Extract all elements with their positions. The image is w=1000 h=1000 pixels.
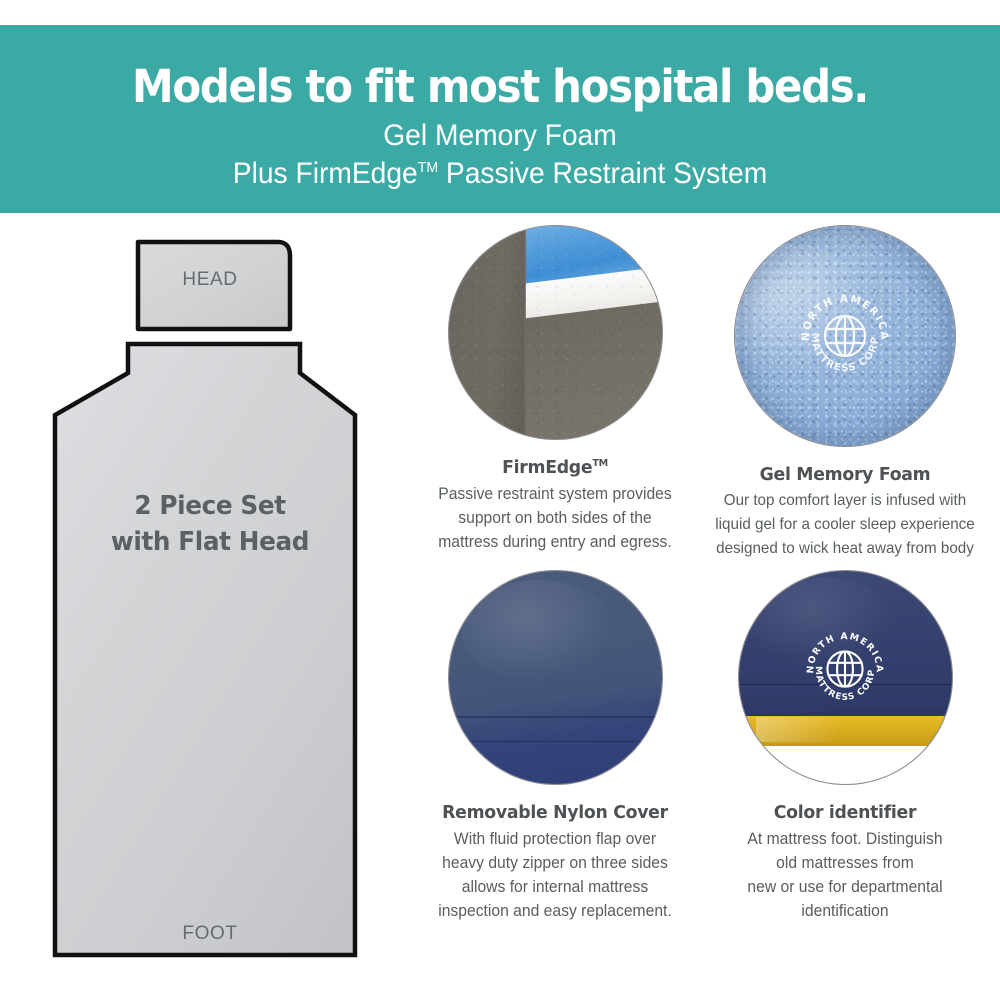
subtitle-line-1: Gel Memory Foam (30, 117, 970, 155)
feature-description-line: designed to wick heat away from body (707, 537, 983, 561)
page-title: Models to fit most hospital beds. (35, 31, 965, 117)
feature-description-line: Our top comfort layer is infused with (707, 489, 983, 513)
firmedge-foam-layers-photo (448, 225, 663, 440)
nylon-seam-line-secondary (449, 741, 662, 742)
feature-description-line: heavy duty zipper on three sides (417, 851, 693, 875)
mattress-body-piece (55, 344, 355, 955)
globe-logo-svg: NORTH AMERICA MATTRESS CORP. (801, 625, 889, 713)
feature-card-removable-nylon-cover: Removable Nylon Cover With fluid protect… (410, 570, 700, 923)
feature-card-firmedge: FirmEdgeTM Passive restraint system prov… (410, 225, 700, 554)
globe-icon (827, 651, 862, 686)
header-banner: Models to fit most hospital beds. Gel Me… (0, 25, 1000, 213)
feature-description-line: Passive restraint system provides (417, 482, 693, 506)
globe-logo-svg: NORTH AMERICA MATTRESS CORP. (795, 286, 895, 386)
feature-title: Removable Nylon Cover (416, 802, 694, 823)
feature-description-line: support on both sides of the (417, 506, 693, 530)
feature-description-line: mattress during entry and egress. (417, 530, 693, 554)
feature-title: Gel Memory Foam (706, 464, 984, 485)
subtitle-line-2-text: Plus FirmEdge (233, 157, 418, 190)
feature-grid: FirmEdgeTM Passive restraint system prov… (400, 225, 1000, 985)
foam-grain-texture (449, 226, 662, 439)
feature-card-gel-memory-foam: NORTH AMERICA MATTRESS CORP. Gel Memory … (700, 225, 990, 561)
nylon-highlight (461, 580, 614, 682)
trademark-symbol: TM (592, 458, 608, 469)
nylon-seam-line (449, 716, 662, 718)
mattress-outline-svg (0, 213, 410, 1000)
feature-description-line: At mattress foot. Distinguish (707, 827, 983, 851)
feature-description: With fluid protection flap over heavy du… (417, 827, 693, 923)
feature-description-line: old mattresses from (707, 851, 983, 875)
subtitle-line-2: Plus FirmEdgeTM Passive Restraint System (30, 155, 970, 193)
feature-title-text: FirmEdge (502, 457, 592, 478)
feature-title-text: Color identifier (774, 802, 916, 823)
trademark-symbol: TM (418, 159, 438, 176)
feature-title-text: Removable Nylon Cover (442, 802, 668, 823)
feature-description-line: identification (707, 899, 983, 923)
color-identifier-gold-band-photo: NORTH AMERICA MATTRESS CORP. (738, 570, 953, 785)
photo-white-background (739, 746, 952, 784)
feature-description-line: new or use for departmental (707, 875, 983, 899)
feature-description: Our top comfort layer is infused with li… (707, 489, 983, 561)
feature-description: At mattress foot. Distinguish old mattre… (707, 827, 983, 923)
feature-card-color-identifier: NORTH AMERICA MATTRESS CORP. Color ident… (700, 570, 990, 923)
feature-title-text: Gel Memory Foam (760, 464, 931, 485)
navy-nylon-cover-photo (448, 570, 663, 785)
feature-description-line: inspection and easy replacement. (417, 899, 693, 923)
feature-description-line: liquid gel for a cooler sleep experience (707, 513, 983, 537)
gel-memory-foam-photo: NORTH AMERICA MATTRESS CORP. (734, 225, 956, 447)
north-america-mattress-corp-logo: NORTH AMERICA MATTRESS CORP. (795, 286, 895, 386)
feature-title: Color identifier (706, 802, 984, 823)
mattress-head-piece (138, 242, 290, 329)
gold-band-highlight (756, 717, 841, 743)
feature-description: Passive restraint system provides suppor… (417, 482, 693, 554)
mattress-shape-diagram: HEAD 2 Piece Set with Flat Head FOOT (0, 213, 410, 1000)
north-america-mattress-corp-logo: NORTH AMERICA MATTRESS CORP. (801, 625, 889, 713)
feature-description-line: allows for internal mattress (417, 875, 693, 899)
globe-icon (825, 316, 865, 356)
feature-title: FirmEdgeTM (416, 457, 694, 478)
subtitle-line-2-suffix: Passive Restraint System (438, 157, 767, 190)
feature-description-line: With fluid protection flap over (417, 827, 693, 851)
